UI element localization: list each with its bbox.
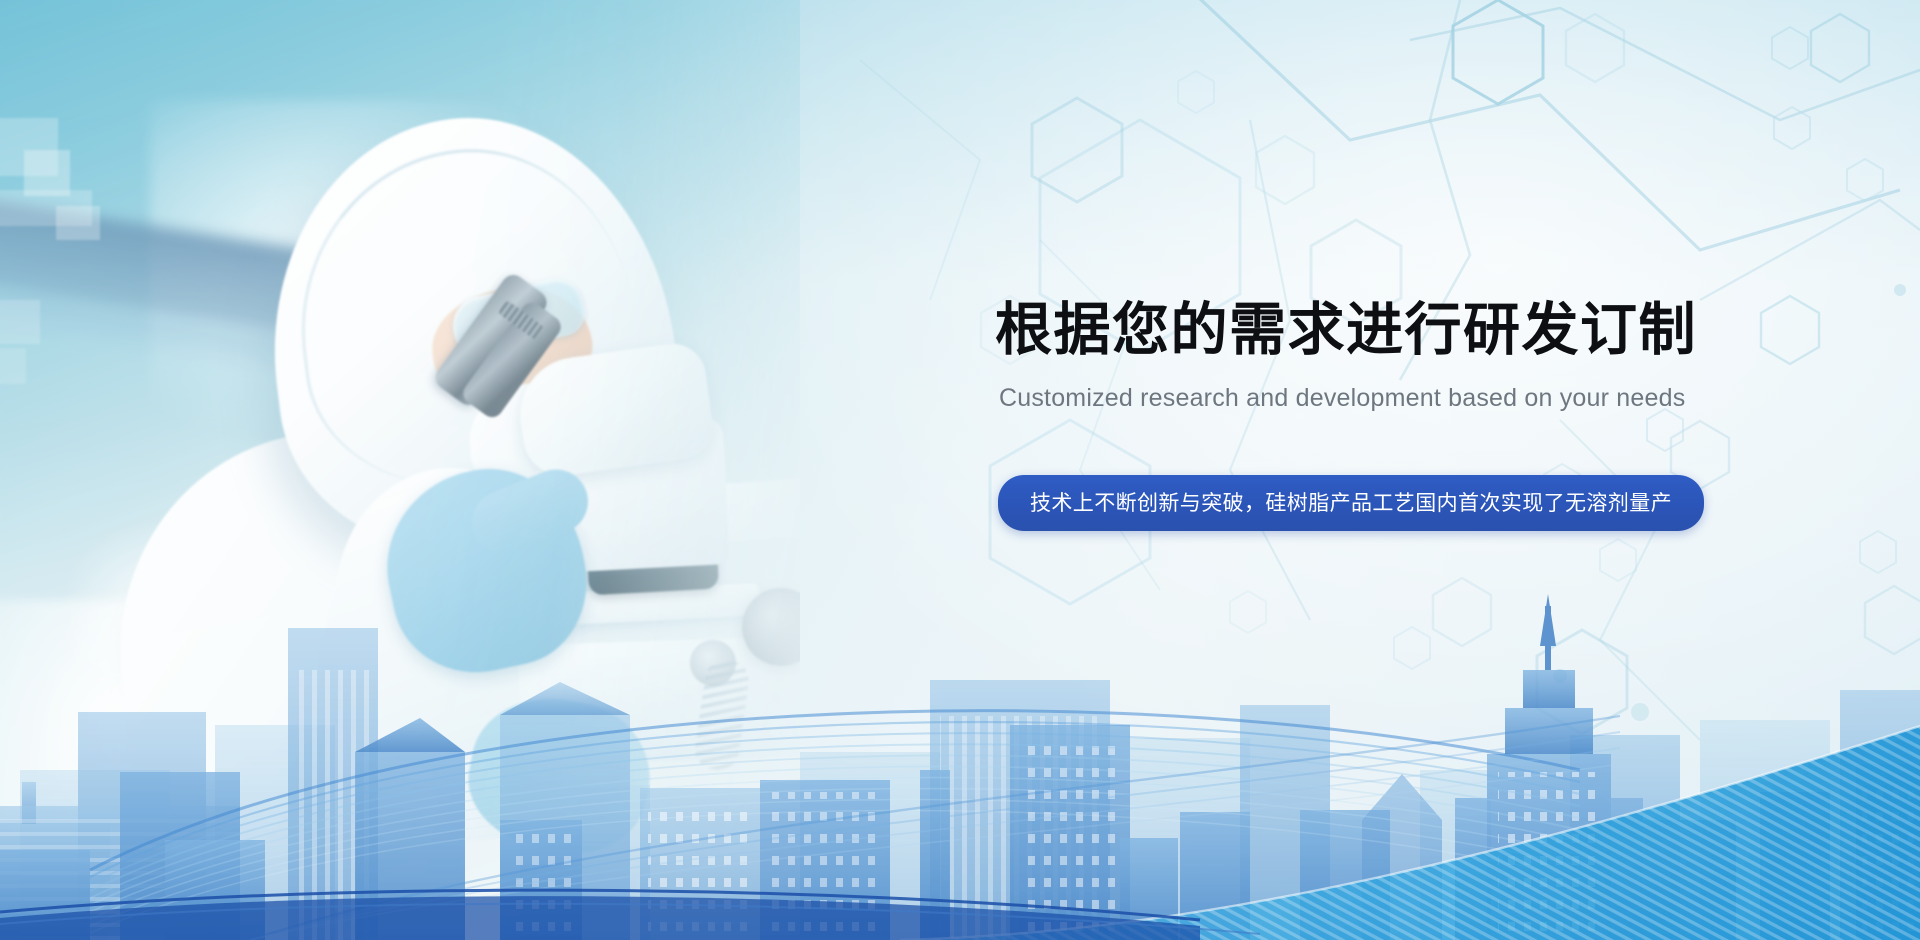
hero-banner: 根据您的需求进行研发订制 Customized research and dev…	[0, 0, 1920, 940]
wave-ribbons	[0, 520, 1920, 940]
page-title: 根据您的需求进行研发订制	[995, 300, 1775, 360]
tagline-badge: 技术上不断创新与突破，硅树脂产品工艺国内首次实现了无溶剂量产	[998, 475, 1704, 531]
banner-content: 根据您的需求进行研发订制 Customized research and dev…	[995, 300, 1775, 531]
banner-subtitle: Customized research and development base…	[999, 384, 1775, 413]
